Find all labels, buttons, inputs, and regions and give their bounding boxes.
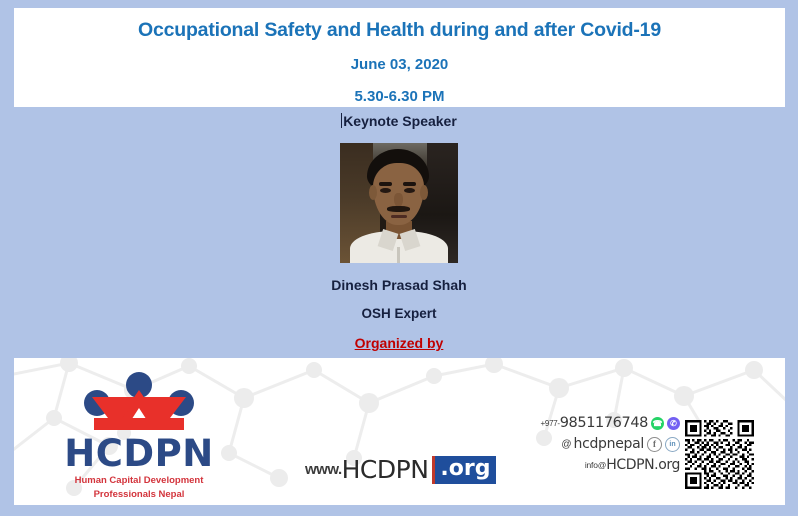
event-date: June 03, 2020 bbox=[14, 55, 785, 75]
event-time: 5.30-6.30 PM bbox=[14, 87, 785, 107]
phone-country-code: +977- bbox=[541, 419, 560, 428]
photo-brow-right bbox=[403, 182, 416, 186]
email-domain-part: HCDPN.org bbox=[606, 457, 680, 473]
website-tld-badge: .org bbox=[432, 456, 495, 484]
phone-number: 9851176748 bbox=[560, 415, 648, 431]
photo-brow-left bbox=[379, 182, 392, 186]
social-handle: hcdpnepal bbox=[574, 436, 645, 452]
social-handle-row[interactable]: @ hcdpnepal f in bbox=[525, 436, 680, 452]
hcdpn-logo: HCDPN Human Capital Development Professi… bbox=[44, 372, 234, 501]
linkedin-icon[interactable]: in bbox=[665, 437, 680, 452]
photo-mouth bbox=[391, 215, 407, 218]
contact-info: +977- 9851176748 ☎ ✆ @ hcdpnepal f in in… bbox=[525, 415, 680, 478]
speaker-role: OSH Expert bbox=[0, 305, 798, 323]
keynote-speaker-section: Keynote Speaker Dinesh Prasad Shah OSH E… bbox=[0, 112, 798, 353]
speaker-name: Dinesh Prasad Shah bbox=[0, 276, 798, 294]
handle-at-symbol: @ bbox=[561, 439, 571, 450]
email-row[interactable]: info@ HCDPN.org bbox=[525, 457, 680, 473]
qr-code-icon[interactable] bbox=[685, 420, 754, 489]
organized-by-row: Organized by bbox=[0, 323, 798, 353]
website-prefix: www. bbox=[305, 461, 342, 478]
photo-nose bbox=[394, 193, 403, 207]
website-name: HCDPN bbox=[342, 455, 429, 484]
photo-eye-right bbox=[404, 188, 415, 193]
facebook-icon[interactable]: f bbox=[647, 437, 662, 452]
viber-icon[interactable]: ✆ bbox=[667, 417, 680, 430]
event-header-panel: Occupational Safety and Health during an… bbox=[14, 8, 785, 107]
logo-acronym: HCDPN bbox=[44, 435, 234, 473]
logo-tagline-line1: Human Capital Development bbox=[44, 475, 234, 487]
photo-ear-right bbox=[420, 185, 428, 200]
website-url[interactable]: www. HCDPN .org bbox=[305, 455, 496, 484]
photo-ear-left bbox=[369, 185, 377, 200]
phone-row[interactable]: +977- 9851176748 ☎ ✆ bbox=[525, 415, 680, 431]
keynote-speaker-label: Keynote Speaker bbox=[341, 112, 457, 130]
keynote-label-row: Keynote Speaker bbox=[0, 112, 798, 131]
email-local-part: info@ bbox=[585, 460, 606, 470]
hcdpn-people-logo-icon bbox=[64, 372, 214, 434]
photo-shirt-placket bbox=[397, 247, 400, 263]
logo-tagline-line2: Professionals Nepal bbox=[44, 489, 234, 501]
page-title: Occupational Safety and Health during an… bbox=[14, 18, 785, 42]
keynote-label-text: Keynote Speaker bbox=[343, 113, 457, 129]
whatsapp-icon[interactable]: ☎ bbox=[651, 417, 664, 430]
speaker-photo bbox=[340, 143, 458, 263]
organized-by-label: Organized by bbox=[355, 334, 444, 352]
photo-moustache bbox=[387, 206, 410, 212]
photo-eye-left bbox=[380, 188, 391, 193]
